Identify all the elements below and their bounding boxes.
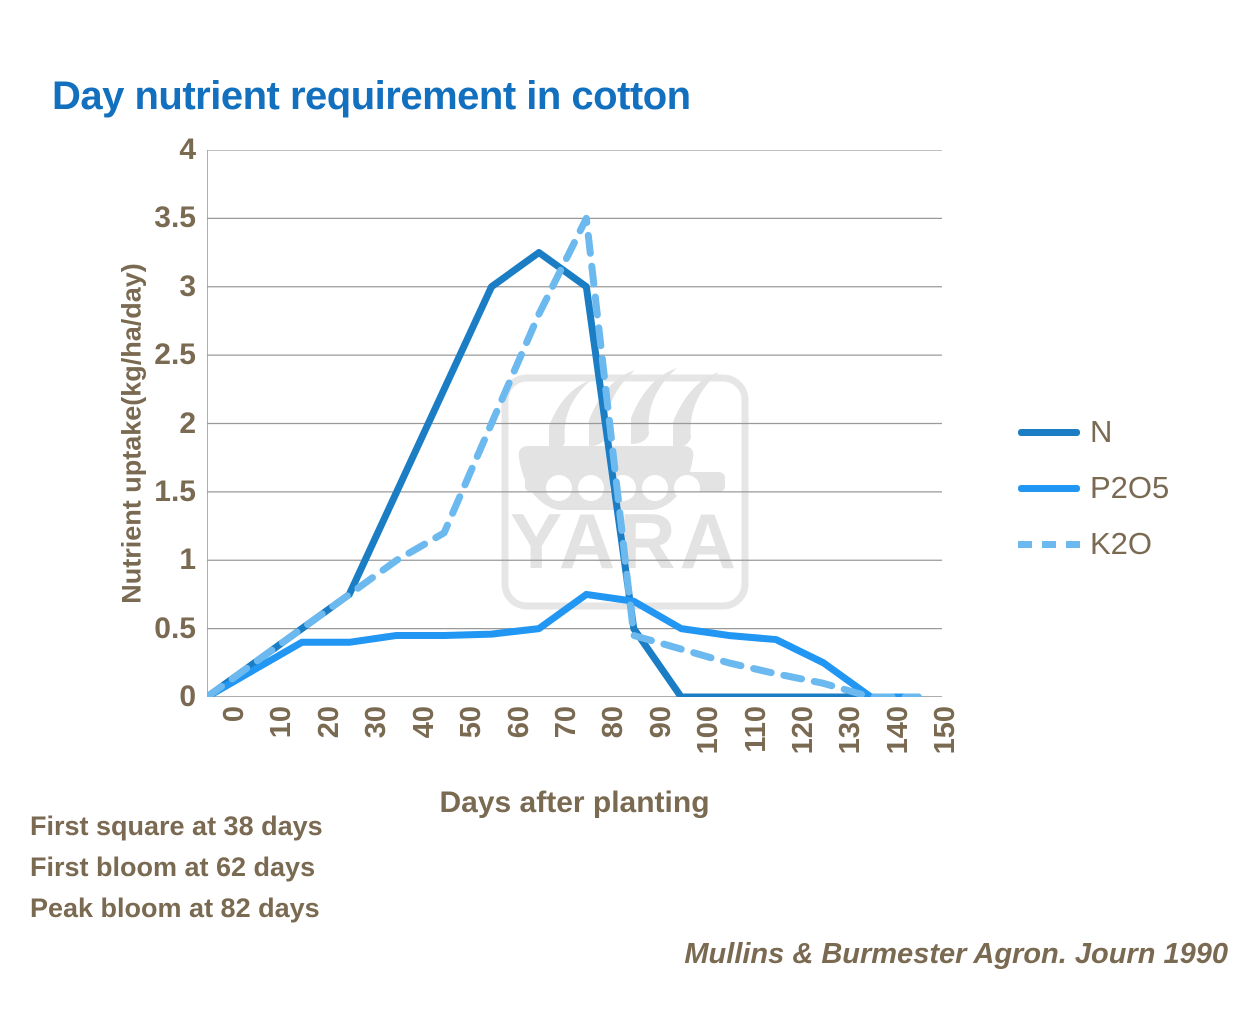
- page-title: Day nutrient requirement in cotton: [52, 74, 691, 119]
- y-tick-label: 2.5: [154, 338, 196, 372]
- legend-swatch-icon: [1018, 429, 1080, 436]
- legend-item-label: K2O: [1090, 526, 1152, 562]
- x-tick-label: 20: [313, 706, 346, 738]
- y-tick-label: 2: [179, 407, 196, 441]
- x-tick-label: 30: [360, 706, 393, 738]
- legend-item-p2o5[interactable]: P2O5: [1018, 460, 1248, 516]
- line-chart-svg: YARA: [207, 150, 942, 697]
- x-tick-label: 0: [218, 706, 251, 722]
- x-tick-label: 40: [408, 706, 441, 738]
- footnotes-block: First square at 38 daysFirst bloom at 62…: [30, 806, 323, 929]
- x-tick-label: 90: [645, 706, 678, 738]
- legend-swatch-icon: [1018, 541, 1080, 548]
- x-tick-label: 120: [787, 706, 820, 754]
- legend-item-n[interactable]: N: [1018, 404, 1248, 460]
- x-tick-label: 10: [265, 706, 298, 738]
- footnote-line: Peak bloom at 82 days: [30, 888, 323, 929]
- legend-item-k2o[interactable]: K2O: [1018, 516, 1248, 572]
- y-tick-label: 1.5: [154, 475, 196, 509]
- legend-swatch-icon: [1018, 485, 1080, 492]
- y-axis-tick-labels: 00.511.522.533.54: [110, 150, 196, 697]
- x-tick-label: 130: [834, 706, 867, 754]
- y-tick-label: 0: [179, 680, 196, 714]
- x-tick-label: 50: [455, 706, 488, 738]
- footnote-line: First square at 38 days: [30, 806, 323, 847]
- x-tick-label: 140: [882, 706, 915, 754]
- y-tick-label: 3: [179, 270, 196, 304]
- x-tick-label: 150: [929, 706, 962, 754]
- chart-legend: NP2O5K2O: [1018, 404, 1248, 572]
- y-tick-label: 4: [179, 133, 196, 167]
- x-axis-tick-labels: 0102030405060708090100110120130140150: [207, 700, 942, 780]
- y-tick-label: 1: [179, 543, 196, 577]
- plot-area: YARA: [207, 150, 942, 697]
- x-tick-label: 60: [503, 706, 536, 738]
- y-tick-label: 0.5: [154, 612, 196, 646]
- x-tick-label: 80: [597, 706, 630, 738]
- x-tick-label: 100: [692, 706, 725, 754]
- x-tick-label: 110: [740, 706, 773, 753]
- y-tick-label: 3.5: [154, 201, 196, 235]
- source-citation: Mullins & Burmester Agron. Journ 1990: [684, 938, 1228, 971]
- footnote-line: First bloom at 62 days: [30, 847, 323, 888]
- x-tick-label: 70: [550, 706, 583, 738]
- legend-item-label: P2O5: [1090, 470, 1169, 506]
- legend-item-label: N: [1090, 414, 1112, 450]
